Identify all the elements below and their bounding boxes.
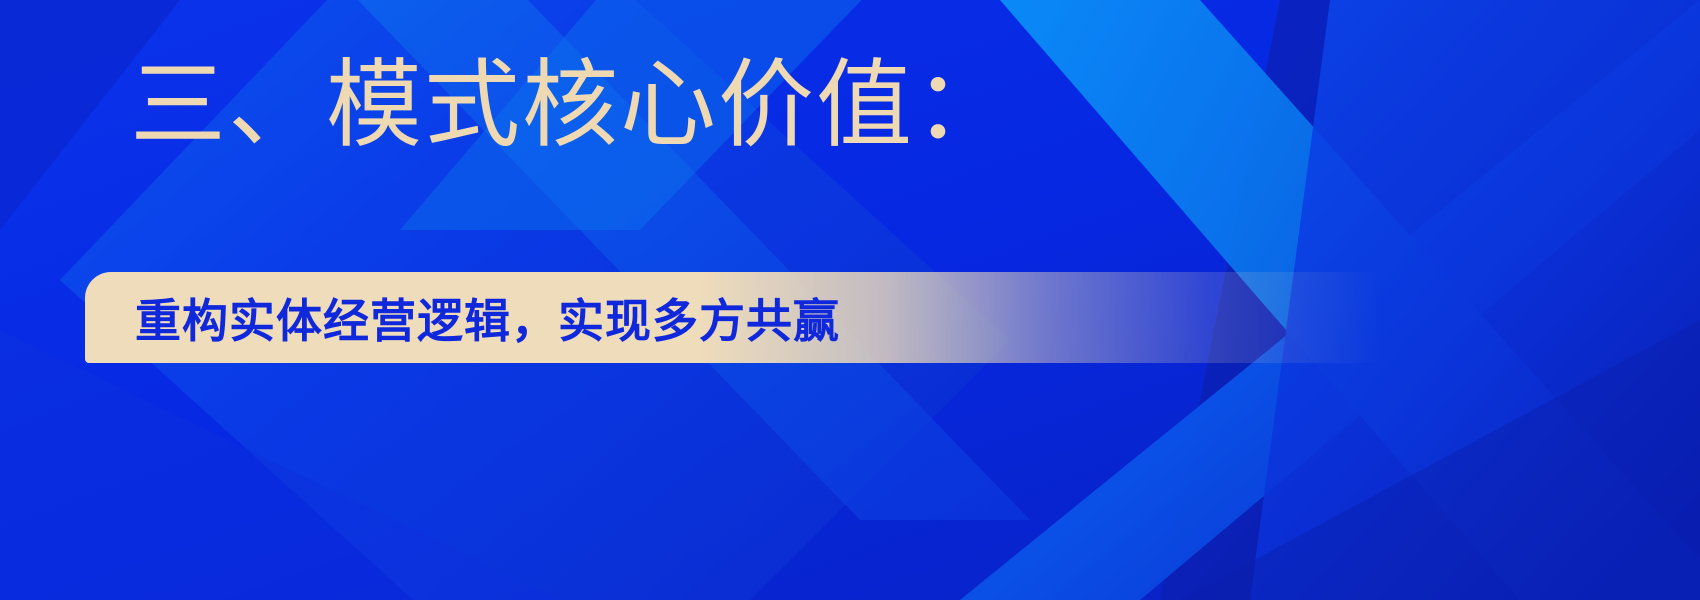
slide-title-container: 三、模式核心价值：	[130, 52, 1012, 160]
lower-left-wedge	[0, 330, 560, 600]
slide-canvas: 三、模式核心价值： 重构实体经营逻辑，实现多方共赢	[0, 0, 1700, 600]
page-title: 三、模式核心价值：	[130, 52, 1012, 160]
subtitle-text: 重构实体经营逻辑，实现多方共赢	[135, 272, 840, 363]
